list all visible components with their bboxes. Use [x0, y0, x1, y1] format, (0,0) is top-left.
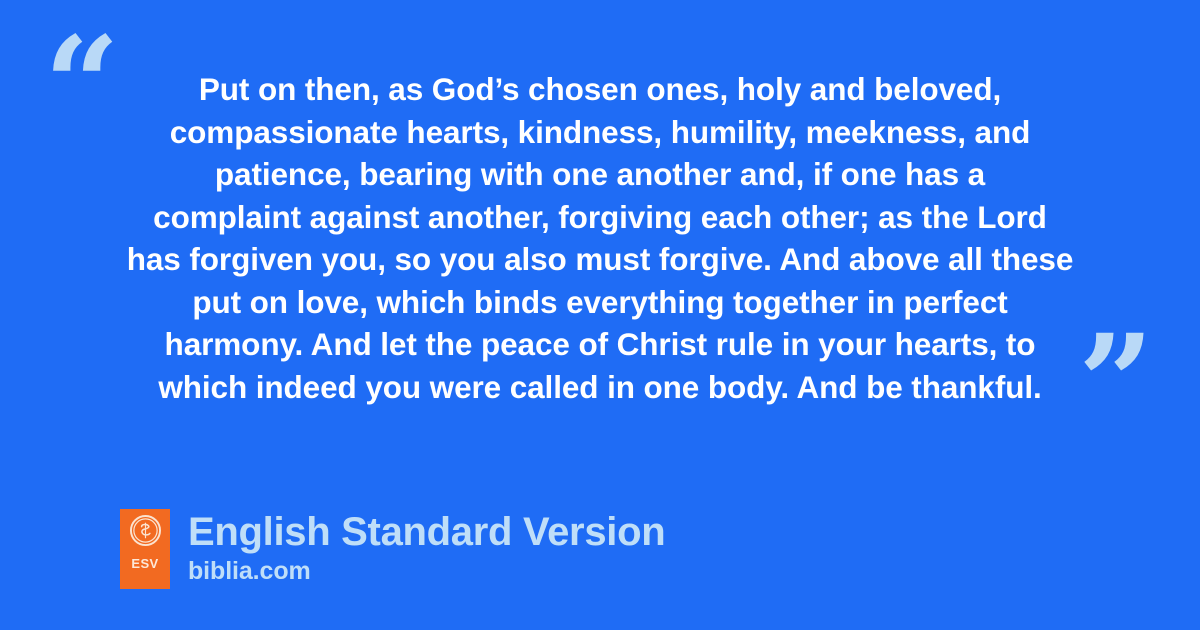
quote-text-block: Put on then, as God’s chosen ones, holy …: [96, 68, 1104, 408]
attribution: ESV English Standard Version biblia.com: [120, 509, 665, 589]
quote-line: Put on then, as God’s chosen ones, holy …: [96, 68, 1104, 111]
esv-logo-label: ESV: [131, 557, 158, 570]
attribution-text: English Standard Version biblia.com: [188, 509, 665, 586]
quote-line: harmony. And let the peace of Christ rul…: [96, 323, 1104, 366]
verse-card: “ Put on then, as God’s chosen ones, hol…: [0, 0, 1200, 630]
close-quote-icon: ”: [1078, 318, 1154, 450]
quote-line: patience, bearing with one another and, …: [96, 153, 1104, 196]
quote-line: has forgiven you, so you also must forgi…: [96, 238, 1104, 281]
bible-version-name: English Standard Version: [188, 510, 665, 555]
quote-line: complaint against another, forgiving eac…: [96, 196, 1104, 239]
site-name: biblia.com: [188, 556, 665, 586]
quote-line: which indeed you were called in one body…: [96, 366, 1104, 409]
quote-line: compassionate hearts, kindness, humility…: [96, 111, 1104, 154]
esv-seal-icon: [130, 515, 161, 546]
esv-logo: ESV: [120, 509, 170, 589]
quote-line: put on love, which binds everything toge…: [96, 281, 1104, 324]
